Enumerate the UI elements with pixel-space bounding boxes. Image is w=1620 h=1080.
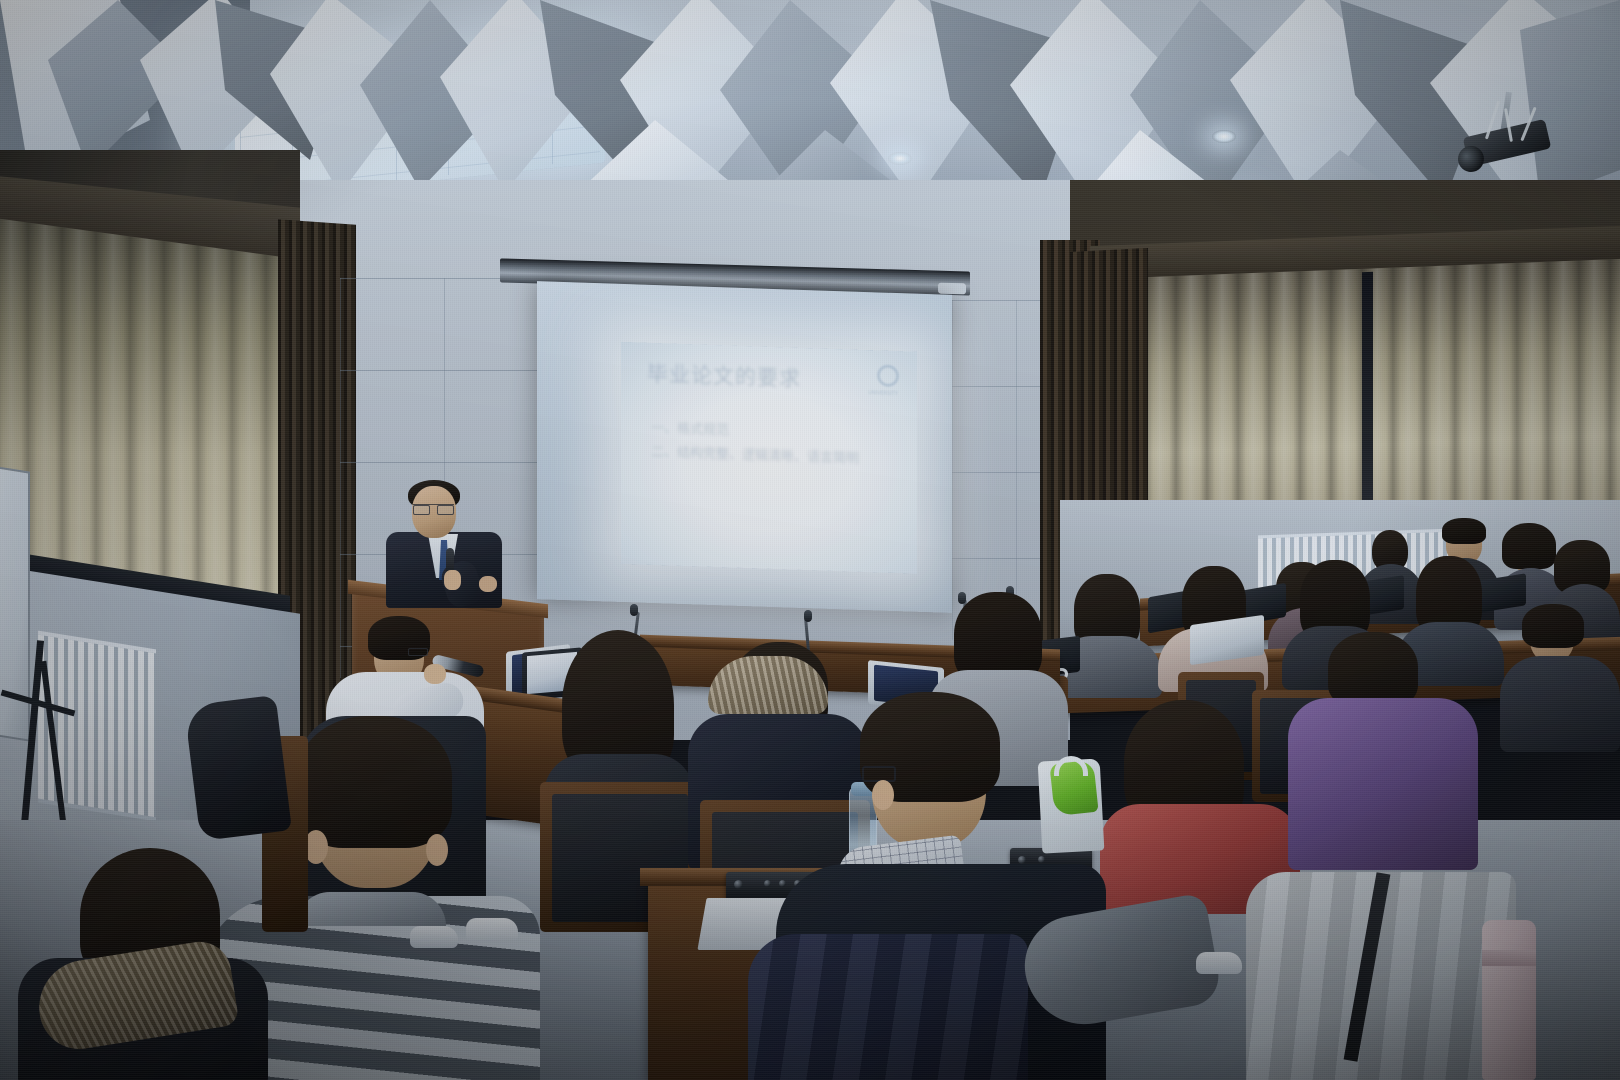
projection-screen: 毕业论文的要求 一、格式规范 二、结构完整、逻辑清晰、语言简明 UNIVERSI… — [537, 281, 952, 613]
console-knob[interactable] — [734, 880, 743, 889]
audience-person-red-sweater — [1100, 700, 1300, 900]
shoe — [410, 926, 458, 948]
person-hair — [296, 716, 452, 848]
microphone-head-icon — [630, 604, 638, 616]
slide-bullet-2: 二、结构完整、逻辑清晰、语言简明 — [651, 441, 901, 468]
person-hair — [1522, 604, 1584, 648]
ceiling-downlight — [888, 152, 912, 165]
curtain-left — [0, 218, 290, 598]
person-torso — [1288, 698, 1478, 870]
slide-title: 毕业论文的要求 — [647, 363, 887, 394]
screen-pull-knob[interactable] — [938, 283, 966, 295]
coat-on-chair — [184, 695, 292, 841]
curtain-gap-shadow — [1362, 272, 1373, 522]
speaker-hand-resting — [479, 576, 497, 592]
audience-person-purple-fleece — [1288, 636, 1478, 866]
eyeglasses-icon — [413, 504, 454, 512]
speaker-presenter — [384, 484, 504, 604]
lecture-hall-photograph: 毕业论文的要求 一、格式规范 二、结构完整、逻辑清晰、语言简明 UNIVERSI… — [0, 0, 1620, 1080]
person-hair — [1328, 632, 1418, 708]
thermos-band — [1482, 950, 1536, 966]
moderator-hand — [424, 664, 446, 684]
speaker-hand — [444, 570, 461, 590]
eyeglasses-icon — [408, 648, 428, 656]
shoe — [1196, 952, 1242, 974]
shoe — [466, 918, 518, 942]
person-ear — [872, 780, 894, 810]
thermos-bottle — [1482, 920, 1536, 1080]
slide-ring-logo-icon — [877, 364, 899, 387]
person-torso — [1500, 656, 1620, 752]
ceiling-projector-rig — [1455, 88, 1605, 178]
audience-person — [1500, 608, 1620, 748]
console-knob[interactable] — [764, 880, 771, 887]
puffer-vest — [748, 934, 1028, 1080]
projected-slide: 毕业论文的要求 一、格式规范 二、结构完整、逻辑清晰、语言简明 UNIVERSI… — [621, 342, 917, 574]
slide-logo-caption: UNIVERSITY — [855, 390, 911, 398]
person-hair — [1442, 518, 1486, 544]
ceiling-downlight — [1212, 130, 1236, 143]
foreground-person-navy-vest — [776, 692, 1106, 1080]
microphone-head-icon — [804, 610, 812, 622]
audience-person — [1052, 574, 1162, 692]
slide-bullet-1: 一、格式规范 — [651, 417, 811, 441]
curtain-right — [1145, 259, 1620, 529]
collar — [296, 892, 446, 926]
person-ear — [426, 834, 448, 866]
